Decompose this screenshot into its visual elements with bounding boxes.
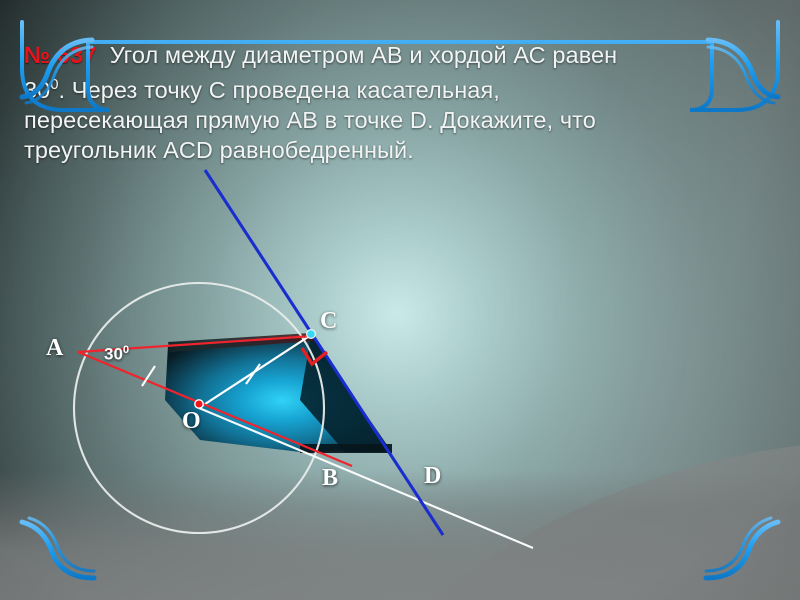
- title-degree-sign: 0: [50, 77, 58, 93]
- angle-degree-sign: 0: [123, 344, 129, 356]
- label-point-D: D: [424, 463, 441, 490]
- slide-canvas: A B C D O 300 № 637 Угол между диаметром…: [0, 0, 800, 600]
- task-number: № 637: [24, 42, 96, 68]
- label-point-C: C: [320, 308, 337, 335]
- page-title: № 637 Угол между диаметром АВ и хордой А…: [24, 40, 724, 165]
- angle-value: 30: [104, 345, 123, 364]
- title-line-2-pre: 30: [24, 77, 50, 103]
- title-line-4: треугольник ACD равнобедренный.: [24, 137, 414, 163]
- label-point-O: O: [182, 408, 201, 435]
- label-point-B: B: [322, 465, 338, 492]
- title-line-3: пересекающая прямую АВ в точке D. Докажи…: [24, 107, 596, 133]
- label-point-A: A: [46, 335, 63, 362]
- label-angle-30: 300: [104, 344, 129, 365]
- title-line-1: Угол между диаметром АВ и хордой АС раве…: [110, 42, 618, 68]
- title-line-2-post: . Через точку С проведена касательная,: [59, 77, 500, 103]
